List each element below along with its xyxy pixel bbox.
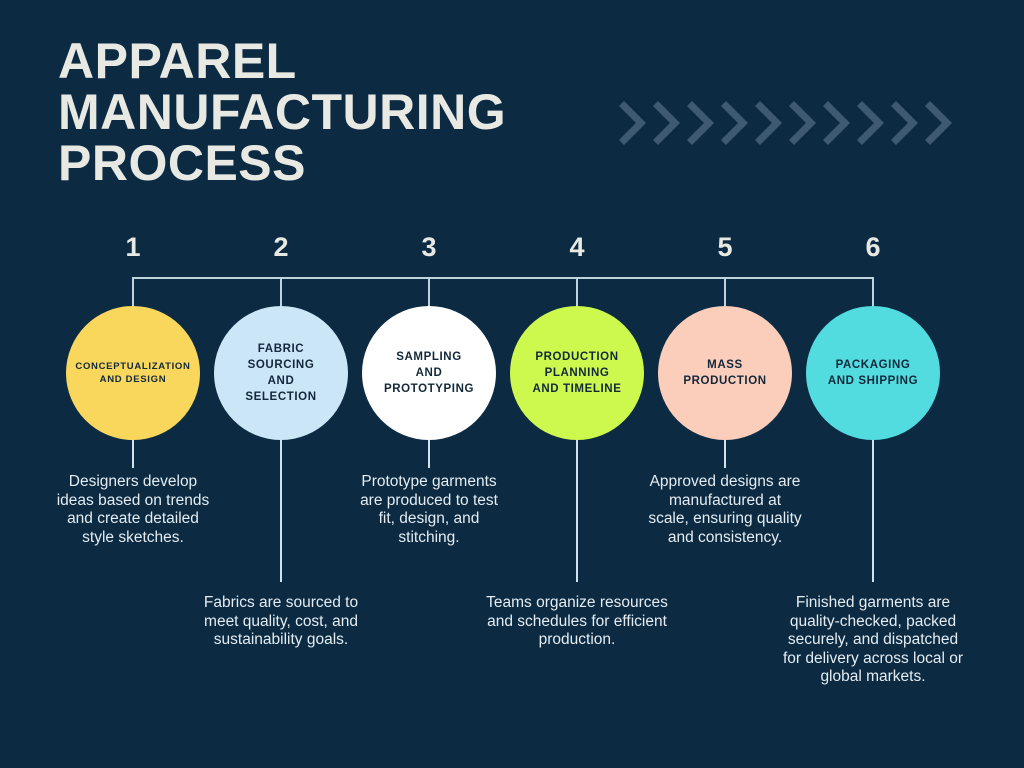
chevron-right-icon — [924, 99, 958, 147]
step-number-1: 1 — [103, 232, 163, 262]
step-description-4: Teams organize resources and schedules f… — [452, 594, 702, 650]
step-number-4: 4 — [547, 232, 607, 262]
chevron-right-icon — [890, 99, 924, 147]
page-title: Apparel Manufacturing Process — [58, 36, 618, 189]
step-circle-6[interactable]: Packaging and Shipping — [806, 306, 940, 440]
rail-tick — [872, 277, 874, 309]
step-circle-3[interactable]: Sampling and Prototyping — [362, 306, 496, 440]
step-circle-1[interactable]: Conceptualization and Design — [66, 306, 200, 440]
step-connector — [280, 440, 282, 582]
chevron-decoration — [618, 88, 973, 158]
step-description-3: Prototype garments are produced to test … — [314, 473, 544, 547]
step-label: Conceptualization and Design — [75, 360, 190, 386]
chevron-right-icon — [652, 99, 686, 147]
step-number-6: 6 — [843, 232, 903, 262]
rail-tick — [724, 277, 726, 309]
step-description-6: Finished garments are quality-checked, p… — [748, 594, 998, 687]
chevron-right-icon — [618, 99, 652, 147]
chevron-right-icon — [788, 99, 822, 147]
step-connector — [428, 440, 430, 468]
rail-tick — [280, 277, 282, 309]
step-description-2: Fabrics are sourced to meet quality, cos… — [166, 594, 396, 650]
rail-tick — [132, 277, 134, 309]
step-label: Fabric Sourcing And Selection — [245, 341, 316, 405]
timeline-rail — [133, 277, 873, 279]
chevron-right-icon — [754, 99, 788, 147]
step-circle-2[interactable]: Fabric Sourcing And Selection — [214, 306, 348, 440]
step-circle-5[interactable]: Mass Production — [658, 306, 792, 440]
infographic-canvas: Apparel Manufacturing Process 1Conceptua… — [0, 0, 1024, 768]
step-circle-4[interactable]: Production Planning and Timeline — [510, 306, 644, 440]
step-number-3: 3 — [399, 232, 459, 262]
chevron-right-icon — [720, 99, 754, 147]
step-connector — [576, 440, 578, 582]
rail-tick — [428, 277, 430, 309]
chevron-right-icon — [822, 99, 856, 147]
step-label: Mass Production — [683, 357, 766, 389]
step-description-5: Approved designs are manufactured at sca… — [610, 473, 840, 547]
step-number-2: 2 — [251, 232, 311, 262]
step-label: Production Planning and Timeline — [533, 349, 622, 397]
step-label: Sampling and Prototyping — [384, 349, 474, 397]
chevron-right-icon — [686, 99, 720, 147]
chevron-right-icon — [856, 99, 890, 147]
step-number-5: 5 — [695, 232, 755, 262]
step-connector — [724, 440, 726, 468]
step-connector — [132, 440, 134, 468]
step-description-1: Designers develop ideas based on trends … — [18, 473, 248, 547]
rail-tick — [576, 277, 578, 309]
step-label: Packaging and Shipping — [828, 357, 918, 389]
step-connector — [872, 440, 874, 582]
